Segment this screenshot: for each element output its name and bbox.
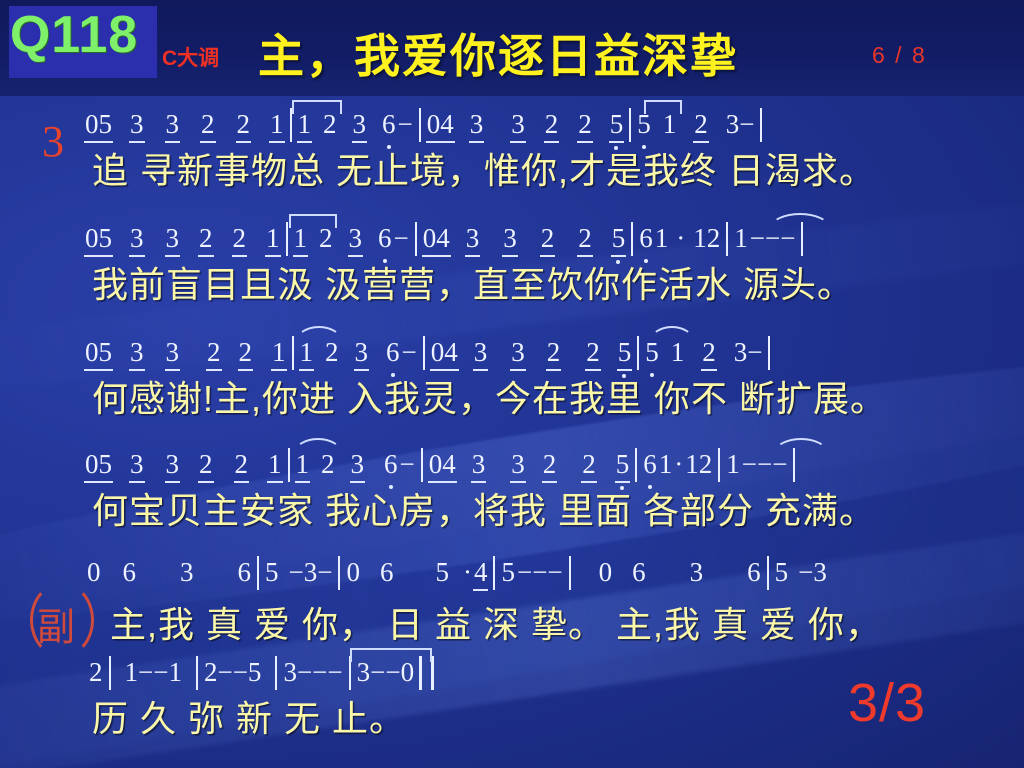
note: 6 xyxy=(379,557,395,588)
chorus-marker: 副 xyxy=(30,582,92,656)
note: 3 xyxy=(129,337,145,371)
key-signature: C大调 xyxy=(162,42,219,72)
note: 2 xyxy=(232,223,248,257)
note: − xyxy=(397,109,414,140)
note: 2 xyxy=(236,109,252,143)
note: 6 xyxy=(638,223,654,254)
barline xyxy=(635,448,637,482)
note: 1 xyxy=(267,449,283,483)
note: 3 xyxy=(165,337,181,371)
note: 05 xyxy=(84,109,113,143)
note: 6 xyxy=(383,449,399,480)
lyric-row-4: 何宝贝主安家 我心房，将我 里面 各部分 充满。 xyxy=(92,482,876,534)
lyric-row-6: 历 久 弥 新 无 止。 xyxy=(92,690,406,742)
barline xyxy=(569,556,571,590)
note: 2 xyxy=(206,337,222,371)
note: 2 xyxy=(693,109,709,143)
note: 1 xyxy=(293,223,309,257)
note: −−− xyxy=(516,557,564,588)
note: 1 xyxy=(733,223,749,254)
note: 2 xyxy=(577,109,593,143)
note: 2 xyxy=(701,337,717,371)
barline xyxy=(421,448,423,482)
note: 5 xyxy=(611,223,627,257)
note: − xyxy=(393,223,410,254)
barline xyxy=(793,448,795,482)
barline xyxy=(109,656,111,690)
barline xyxy=(629,108,631,142)
note: 3− xyxy=(733,337,764,368)
slur-arc xyxy=(296,326,342,341)
page-number: 3/3 xyxy=(848,672,926,734)
dot-prolong: · xyxy=(675,223,686,254)
tie-bracket xyxy=(350,648,432,662)
note: 04 xyxy=(428,449,457,483)
note: 04 xyxy=(430,337,459,371)
lyric-row-3: 何感谢!主,你进 入我灵，今在我里 你不 断扩展。 xyxy=(92,370,887,422)
note: 2 xyxy=(320,449,336,480)
note: 3 xyxy=(465,223,481,257)
note: 6 xyxy=(122,557,138,588)
note: 1 xyxy=(269,109,285,143)
note: 5 xyxy=(500,557,516,588)
barline xyxy=(760,108,762,142)
slide-header: Q118 C大调 主，我爱你逐日益深挚 6 / 8 xyxy=(0,0,1024,96)
note: 1 xyxy=(654,223,670,254)
note: 2−−5 xyxy=(203,657,262,688)
note: 5 xyxy=(644,337,660,368)
barline xyxy=(338,556,340,590)
barline xyxy=(257,556,259,590)
note: 1 xyxy=(658,449,674,480)
note: 1 xyxy=(295,449,311,483)
note: 3 xyxy=(129,449,145,483)
note: 1 xyxy=(271,337,287,371)
note: 1 xyxy=(299,337,315,371)
chorus-label: 副 xyxy=(37,596,75,651)
note: 3 xyxy=(469,109,485,143)
note: 3 xyxy=(129,223,145,257)
notation-row-5: 06365−3−065·45−−−06365−3 xyxy=(86,556,828,591)
slur-arc xyxy=(294,438,342,453)
barline xyxy=(286,222,288,256)
note: 2 xyxy=(540,223,556,257)
note: 6 xyxy=(746,557,762,588)
barline xyxy=(196,656,198,690)
note: 2 xyxy=(324,337,340,368)
notation-row-2: 05332211236−043322561·121−−− xyxy=(84,222,808,257)
note: 2 xyxy=(544,109,560,143)
note: 3−−− xyxy=(282,657,343,688)
notation-row-3: 05332211236−04332255123− xyxy=(84,336,775,371)
time-signature: 6 / 8 xyxy=(872,42,927,69)
note: 1 xyxy=(297,109,313,143)
note: 5 xyxy=(264,557,280,588)
slur-arc xyxy=(774,438,828,453)
note: 2 xyxy=(542,449,558,483)
note: 3 xyxy=(165,109,181,143)
note: 5 xyxy=(609,109,625,143)
note: 5 xyxy=(617,337,633,371)
notation-row-6: 21−−12−−53−−−3−−0 xyxy=(88,656,438,690)
note: 2 xyxy=(198,223,214,257)
note: 3 xyxy=(510,337,526,371)
note: 3 xyxy=(510,449,526,483)
note: 2 xyxy=(585,337,601,371)
note: 2 xyxy=(88,657,104,688)
note: 6 xyxy=(631,557,647,588)
note: 6 xyxy=(381,109,397,140)
dot-prolong: · xyxy=(462,557,473,588)
note: −−− xyxy=(741,449,789,480)
note: −3 xyxy=(797,557,828,588)
notation-row-4: 05332211236−043322561·121−−− xyxy=(84,448,800,483)
note: 3 xyxy=(689,557,705,588)
barline xyxy=(718,448,720,482)
barline xyxy=(493,556,495,590)
note: −3− xyxy=(288,557,334,588)
note: 04 xyxy=(422,223,451,257)
slur-arc xyxy=(650,326,694,341)
note: 12 xyxy=(692,223,721,254)
notation-row-1: 05332211236−04332255123− xyxy=(84,108,767,143)
barline xyxy=(288,448,290,482)
note: 2 xyxy=(198,449,214,483)
barline xyxy=(631,222,633,256)
note: 6 xyxy=(237,557,253,588)
note: 3 xyxy=(350,449,366,483)
note: 3− xyxy=(725,109,756,140)
note: 1 xyxy=(670,337,686,368)
lyric-row-5: 主,我 真 爱 你， 日 益 深 挚。 主,我 真 爱 你， xyxy=(110,596,882,648)
barline xyxy=(637,336,639,370)
note: 05 xyxy=(84,337,113,371)
note: 2 xyxy=(200,109,216,143)
slur-arc xyxy=(770,213,830,228)
note: 2 xyxy=(238,337,254,371)
tie-bracket xyxy=(289,214,337,228)
note: 3 xyxy=(502,223,518,257)
note: 3 xyxy=(354,337,370,371)
note: 3 xyxy=(165,223,181,257)
note: 6 xyxy=(385,337,401,368)
note: 5 xyxy=(774,557,790,588)
note: 2 xyxy=(581,449,597,483)
barline xyxy=(768,336,770,370)
dot-prolong: · xyxy=(673,449,684,480)
page-title: 主，我爱你逐日益深挚 xyxy=(258,20,738,86)
note: 05 xyxy=(84,449,113,483)
note: 05 xyxy=(84,223,113,257)
note: 2 xyxy=(234,449,250,483)
note: 0 xyxy=(345,557,361,588)
note: 3 xyxy=(473,337,489,371)
note: 3 xyxy=(165,449,181,483)
verse-number: 3 xyxy=(42,116,64,167)
barline xyxy=(292,336,294,370)
note: 3 xyxy=(348,223,364,257)
note: − xyxy=(401,337,418,368)
note: 0 xyxy=(86,557,102,588)
barline xyxy=(726,222,728,256)
note: 5 xyxy=(615,449,631,483)
barline xyxy=(423,336,425,370)
slide-canvas: Q118 C大调 主，我爱你逐日益深挚 6 / 8 3 05332211236−… xyxy=(0,0,1024,768)
barline xyxy=(415,222,417,256)
note: 3 xyxy=(471,449,487,483)
note: 1 xyxy=(265,223,281,257)
note: 12 xyxy=(684,449,713,480)
note: 1 xyxy=(725,449,741,480)
note: 1−−1 xyxy=(124,657,183,688)
note: 2 xyxy=(577,223,593,257)
note: 3 xyxy=(179,557,195,588)
song-number: Q118 xyxy=(0,0,148,72)
tie-bracket xyxy=(644,100,682,114)
note: 3 xyxy=(129,109,145,143)
lyric-row-2: 我前盲目且汲 汲营营，直至饮你作活水 源头。 xyxy=(92,256,854,308)
tie-bracket xyxy=(292,100,342,114)
barline xyxy=(419,108,421,142)
note: 4 xyxy=(473,557,489,591)
note: 0 xyxy=(598,557,614,588)
barline xyxy=(275,656,277,690)
note: 04 xyxy=(426,109,455,143)
note: 5 xyxy=(434,557,450,588)
note: 6 xyxy=(642,449,658,480)
note: 6 xyxy=(377,223,393,254)
barline xyxy=(767,556,769,590)
note: 3 xyxy=(510,109,526,143)
note: 3 xyxy=(352,109,368,143)
note: − xyxy=(399,449,416,480)
note: 2 xyxy=(546,337,562,371)
lyric-row-1: 追 寻新事物总 无止境，惟你,才是我终 日渴求。 xyxy=(92,142,876,194)
